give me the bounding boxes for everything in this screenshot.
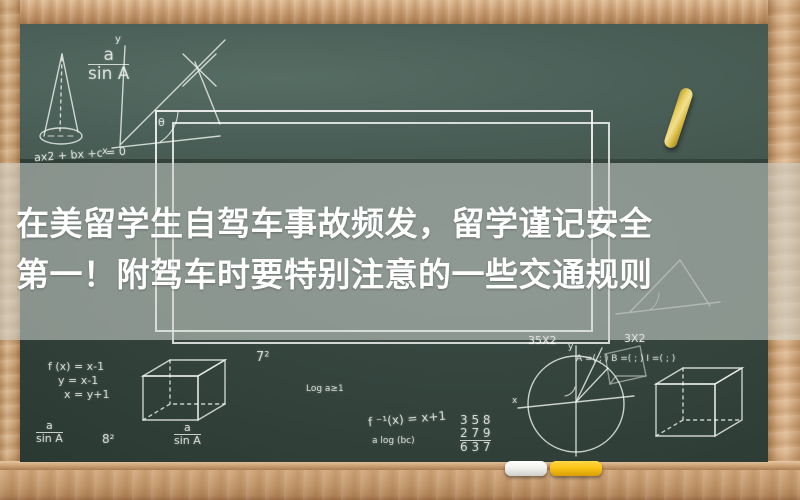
- page-title-line-2: 第一！附驾车时要特别注意的一些交通规则: [16, 249, 796, 300]
- chalk-eight-squared: 8²: [102, 432, 114, 446]
- chalk-log-bc: a log (bc): [372, 436, 415, 446]
- tray-lip: [0, 461, 800, 470]
- cube-right-side: [715, 368, 742, 436]
- chalk-function-line-1: f (x) = x-1: [48, 360, 104, 373]
- cube-right-front: [656, 384, 715, 436]
- unit-circle-angle-arc: [565, 387, 575, 396]
- chalk-fraction-a-sin-a-top: a sin A: [88, 46, 129, 84]
- cube-left-side: [198, 360, 225, 420]
- page-title: 在美留学生自驾车事故频发，留学谨记安全 第一！附驾车时要特别注意的一些交通规则: [16, 198, 796, 300]
- unit-circle-radius-2: [576, 368, 608, 402]
- chalk-axis-x-label: x: [102, 146, 108, 157]
- white-chalk-on-tray-icon: [505, 461, 547, 476]
- yellow-chalk-on-tray-icon: [550, 461, 602, 476]
- chalk-fraction-a-sin-a-b1: a sin A: [36, 420, 63, 445]
- cube-left: [143, 360, 225, 420]
- cone-right-edge: [62, 54, 78, 132]
- cube-right: [656, 368, 742, 436]
- chalk-axis-y-label: y: [115, 34, 121, 45]
- chalkboard-banner: a sin A ax2 + bx +c = 0 y x θ f (x) = x-…: [0, 0, 800, 500]
- paper-sketch: [605, 346, 646, 384]
- cone-axis: [60, 58, 62, 132]
- page-title-line-1: 在美留学生自驾车事故频发，留学谨记安全: [16, 205, 653, 242]
- chalk-circle-axis-x: x: [512, 396, 517, 406]
- chalk-matrix-expression: A =( ; ) B =( ; ) I =( ; ): [576, 354, 675, 364]
- frame-top-rail: [0, 0, 800, 24]
- chalk-function-line-3: x = y+1: [64, 388, 109, 401]
- chalk-function-line-2: y = x-1: [58, 374, 98, 387]
- chalk-seven-squared: 7²: [256, 350, 269, 365]
- chalk-long-division: 3 5 8 2 7 9 6 3 7: [460, 414, 491, 454]
- chalk-fraction-a-sin-a-b2: a sin A: [174, 422, 201, 447]
- chalk-log-a: Log a≥1: [306, 384, 344, 394]
- cone-left-edge: [44, 54, 62, 136]
